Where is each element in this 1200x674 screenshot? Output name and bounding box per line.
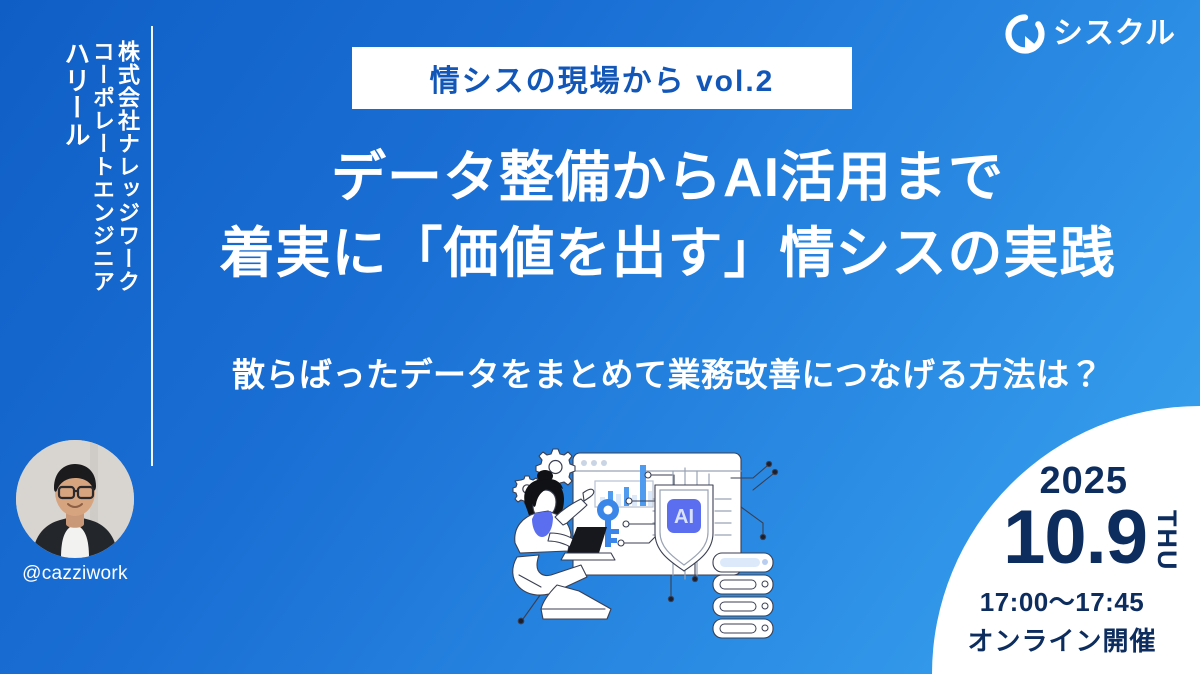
- hero-illustration: .ln{fill:none;stroke:#3a3f52;stroke-widt…: [495, 435, 835, 650]
- circle-swirl-logo-icon: [1005, 14, 1045, 54]
- title-line-2: 着実に「価値を出す」情シスの実践: [175, 216, 1160, 292]
- brand-logo[interactable]: シスクル: [1005, 14, 1176, 54]
- ai-label: AI: [674, 506, 694, 528]
- vertical-divider: [151, 26, 153, 466]
- page-title: データ整備からAI活用まで 着実に「価値を出す」情シスの実践: [175, 140, 1160, 292]
- series-badge: 情シスの現場から vol.2: [352, 47, 852, 109]
- speaker-company: 株式会社ナレッジワーク: [116, 40, 139, 400]
- event-day: 10.9: [1003, 502, 1147, 574]
- event-time: 17:00〜17:45: [944, 582, 1180, 619]
- speaker-role: コーポレートエンジニア: [91, 40, 114, 400]
- series-badge-label: 情シスの現場から vol.2: [430, 56, 775, 100]
- speaker-handle: @cazziwork: [0, 563, 150, 585]
- event-day-of-week: THU: [1153, 504, 1180, 572]
- avatar: [16, 440, 134, 558]
- event-mode: オンライン開催: [944, 621, 1180, 658]
- title-line-1: データ整備からAI活用まで: [175, 140, 1160, 216]
- speaker-vertical-text: ハリール コーポレートエンジニア 株式会社ナレッジワーク: [62, 40, 139, 400]
- subtitle: 散らばったデータをまとめて業務改善につなげる方法は？: [175, 348, 1160, 396]
- brand-logo-text: シスクル: [1053, 19, 1176, 49]
- speaker-name: ハリール: [62, 40, 89, 400]
- speaker-panel: ハリール コーポレートエンジニア 株式会社ナレッジワーク: [0, 0, 155, 674]
- server-stack: [713, 553, 773, 638]
- event-date-panel: 2025 10.9 THU 17:00〜17:45 オンライン開催: [932, 406, 1200, 674]
- webinar-banner: シスクル ハリール コーポレートエンジニア 株式会社ナレッジワーク: [0, 0, 1200, 674]
